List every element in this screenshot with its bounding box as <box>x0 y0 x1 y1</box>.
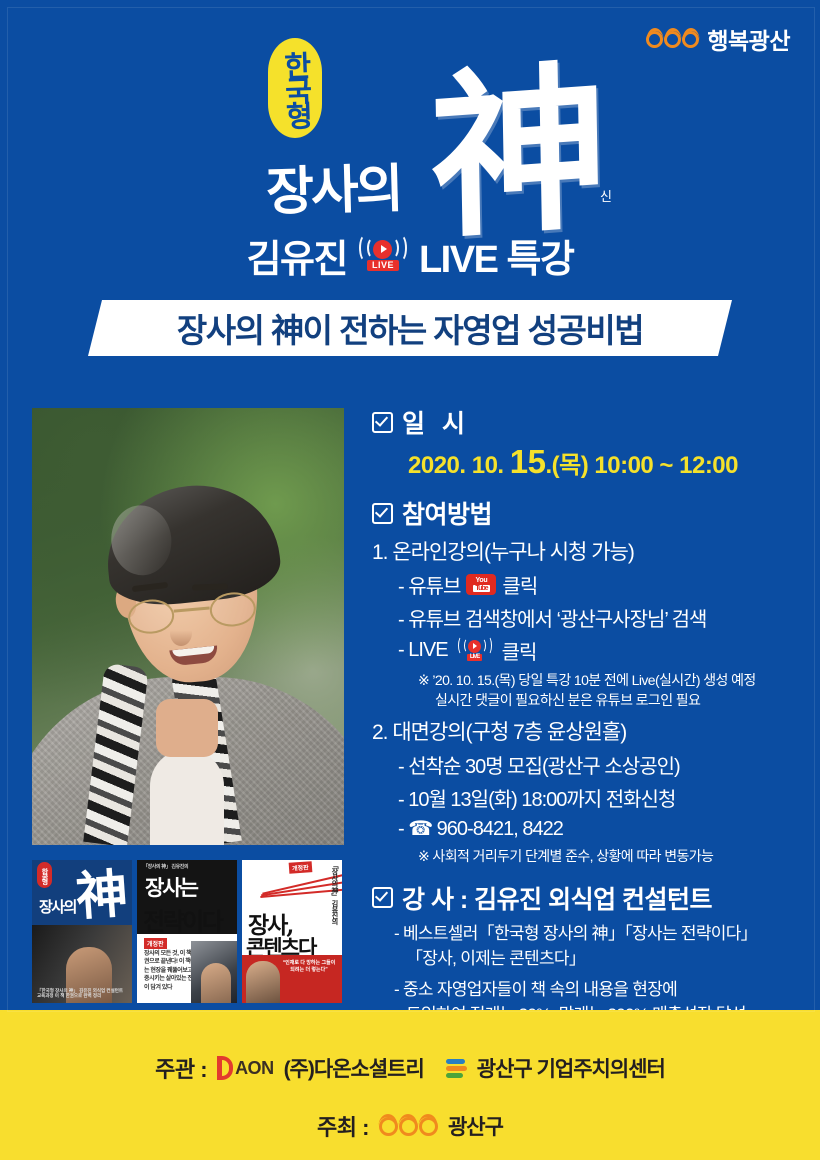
checkbox-icon <box>372 887 393 908</box>
howto-note-1-line2: 실시간 댓글이 필요하신 분은 유튜브 로그인 필요 <box>435 690 802 710</box>
section-instructor: 강 사 : 김유진 외식업 컨설턴트 - 베스트셀러「한국형 장사의 神」「장사… <box>372 880 802 1028</box>
book1-badge: 한국형 <box>37 862 52 888</box>
youtube-icon[interactable]: You Tube <box>466 574 496 595</box>
howto-item-2: 2. 대면강의(구청 7층 윤상원홀) <box>372 716 802 746</box>
youtube-icon-you: You <box>476 577 488 584</box>
event-datetime: 2020. 10. 15.(목) 10:00 ~ 12:00 <box>408 443 802 481</box>
happy-gwangsan-logo: 행복광산 <box>646 22 790 56</box>
howto-item-2-sub-2: - 10월 13일(화) 18:00까지 전화신청 <box>398 783 802 812</box>
photo-brow-right <box>192 583 228 590</box>
live-lecture-label: LIVE 특강 <box>419 228 573 283</box>
section-datetime-header: 일 시 <box>372 404 802 440</box>
section-howto-label: 참여방법 <box>402 495 492 531</box>
speaker-name: 김유진 <box>247 228 347 283</box>
daon-logo-text: AON <box>235 1058 274 1079</box>
poster-footer: 주관 : AON (주)다온소셜트리 광산구 기업주치의센터 주최 : 광산구 <box>0 1010 820 1160</box>
gwangsan-three-circle-icon <box>379 1117 438 1136</box>
book2-title-line1: 장사는 <box>145 872 197 902</box>
book3-quote: “인재로 다 망하는 그들이 되려는 더 렇는다” <box>281 960 337 974</box>
footer-host-name: 광산구 <box>448 1111 503 1141</box>
event-time-range: .(목) 10:00 ~ 12:00 <box>545 452 738 479</box>
daon-d-icon <box>217 1056 233 1080</box>
gwangsan-three-circle-icon <box>646 31 699 48</box>
live-line-post: 클릭 <box>502 636 537 665</box>
book2-badge: 개정판 <box>144 938 167 949</box>
youtube-icon-tube: Tube <box>473 585 489 592</box>
youtube-line-post: 클릭 <box>502 570 537 599</box>
book1-title: 장사의 <box>39 896 76 917</box>
footer-host-label: 주최 : <box>317 1110 369 1142</box>
live-broadcast-icon-small[interactable]: LIVE <box>454 637 496 665</box>
photo-shirt <box>150 749 224 845</box>
section-howto: 참여방법 1. 온라인강의(누구나 시청 가능) - 유튜브 You Tube … <box>372 495 802 866</box>
book-cover-2: 「장사의 神」 김유진의 장사는 전략이다 개정판 장사의 모든 것, 이 책 … <box>137 860 237 1003</box>
instructor-bullet-2-line1: - 중소 자영업자들이 책 속의 내용을 현장에 <box>394 980 677 999</box>
section-instructor-label: 강 사 : 김유진 외식업 컨설턴트 <box>402 880 712 916</box>
event-year-month: 2020. 10. <box>408 452 504 479</box>
footer-host-row: 주최 : 광산구 <box>0 1110 820 1142</box>
instructor-bullet-1-line1: - 베스트셀러「한국형 장사의 神」「장사는 전략이다」 <box>394 924 757 943</box>
book1-caption: 「한국형 장사의 神」 김유진 외식업 컨설턴트 교육과정 이 책 한권으로 완… <box>37 988 123 999</box>
footer-organizer-label: 주관 : <box>155 1052 207 1084</box>
footer-organizer-row: 주관 : AON (주)다온소셜트리 광산구 기업주치의센터 <box>0 1052 820 1084</box>
howto-item-1-sub-1: - 유튜브 You Tube 클릭 <box>398 570 802 599</box>
book-cover-3: 개정판 「장사의 神」 김유진의 장사, 콘텐츠다 “인재로 다 망하는 그들이… <box>242 860 342 1003</box>
book3-photo-panel: “인재로 다 망하는 그들이 되려는 더 렇는다” <box>242 955 342 1003</box>
howto-note-1-line1: ※ ’20. 10. 15.(목) 당일 특강 10분 전에 Live(실시간)… <box>418 672 756 688</box>
instructor-bullet-1-line2: 「장사, 이제는 콘텐츠다」 <box>406 946 802 972</box>
daon-company-name: (주)다온소셜트리 <box>284 1053 424 1083</box>
howto-note-2: ※ 사회적 거리두기 단계별 준수, 상황에 따라 변동가능 <box>418 846 802 866</box>
howto-item-1: 1. 온라인강의(누구나 시청 가능) <box>372 536 802 566</box>
book2-photo <box>191 941 237 1003</box>
section-instructor-header: 강 사 : 김유진 외식업 컨설턴트 <box>372 880 802 916</box>
book2-small-top: 「장사의 神」 김유진의 <box>143 863 188 870</box>
book-cover-1: 한국형 장사의 神 「한국형 장사의 神」 김유진 외식업 컨설턴트 교육과정 … <box>32 860 132 1003</box>
headline-banner: 장사의 神이 전하는 자영업 성공비법 <box>88 300 732 356</box>
section-datetime-label: 일 시 <box>402 404 470 440</box>
howto-note-1: ※ ’20. 10. 15.(목) 당일 특강 10분 전에 Live(실시간)… <box>418 670 802 711</box>
hanguk-badge-label: 한국형 <box>280 50 310 126</box>
book-cover-row: 한국형 장사의 神 「한국형 장사의 神」 김유진 외식업 컨설턴트 교육과정 … <box>32 860 344 1003</box>
poster-details-column: 일 시 2020. 10. 15.(목) 10:00 ~ 12:00 참여방법 … <box>372 404 802 1028</box>
live-icon-label: LIVE <box>367 260 399 272</box>
section-howto-header: 참여방법 <box>372 495 802 531</box>
live-subtitle-row: 김유진 LIVE LIVE 특강 <box>0 228 820 283</box>
gwangsan-center-name: 광산구 기업주치의센터 <box>477 1053 665 1083</box>
howto-item-2-sub-1: - 선착순 30명 모집(광산구 소상공인) <box>398 750 802 779</box>
title-jangsa: 장사의 <box>265 146 401 224</box>
live-icon-small-label: LIVE <box>467 654 482 662</box>
photo-neck <box>156 699 218 757</box>
daon-logo: AON <box>217 1056 274 1080</box>
checkbox-icon <box>372 412 393 433</box>
book3-tag: 개정판 <box>289 861 312 874</box>
book3-vertical-text: 「장사의 神」 김유진의 <box>330 862 338 924</box>
photo-nose <box>170 620 192 646</box>
gwangsan-center-stripes-icon <box>446 1059 467 1078</box>
howto-item-1-sub-2: - 유튜브 검색창에서 ‘광산구사장님’ 검색 <box>398 603 802 632</box>
live-line-pre: - LIVE <box>398 639 448 662</box>
hanguk-badge: 한국형 <box>268 38 322 138</box>
event-day: 15 <box>510 443 546 480</box>
checkbox-icon <box>372 503 393 524</box>
book1-hanja: 神 <box>74 868 130 924</box>
howto-item-2-phone: - ☎ 960-8421, 8422 <box>398 816 802 841</box>
howto-item-1-sub-3: - LIVE LIVE 클릭 <box>398 636 802 665</box>
top-logo-label: 행복광산 <box>707 22 790 56</box>
live-broadcast-icon: LIVE <box>354 236 412 276</box>
book2-title-line2: 전략이다 <box>143 902 221 937</box>
event-poster: 행복광산 한국형 장사의 神 신 김유진 LIVE LIVE 특강 장사의 神이… <box>0 0 820 1160</box>
title-hanja-shin: 神 <box>429 58 610 249</box>
youtube-line-pre: - 유튜브 <box>398 570 460 599</box>
title-hanja-ruby: 신 <box>600 186 612 205</box>
instructor-bullet-1: - 베스트셀러「한국형 장사의 神」「장사는 전략이다」 「장사, 이제는 콘텐… <box>394 921 802 972</box>
headline-text: 장사의 神이 전하는 자영업 성공비법 <box>177 304 643 352</box>
speaker-photo <box>32 408 344 845</box>
